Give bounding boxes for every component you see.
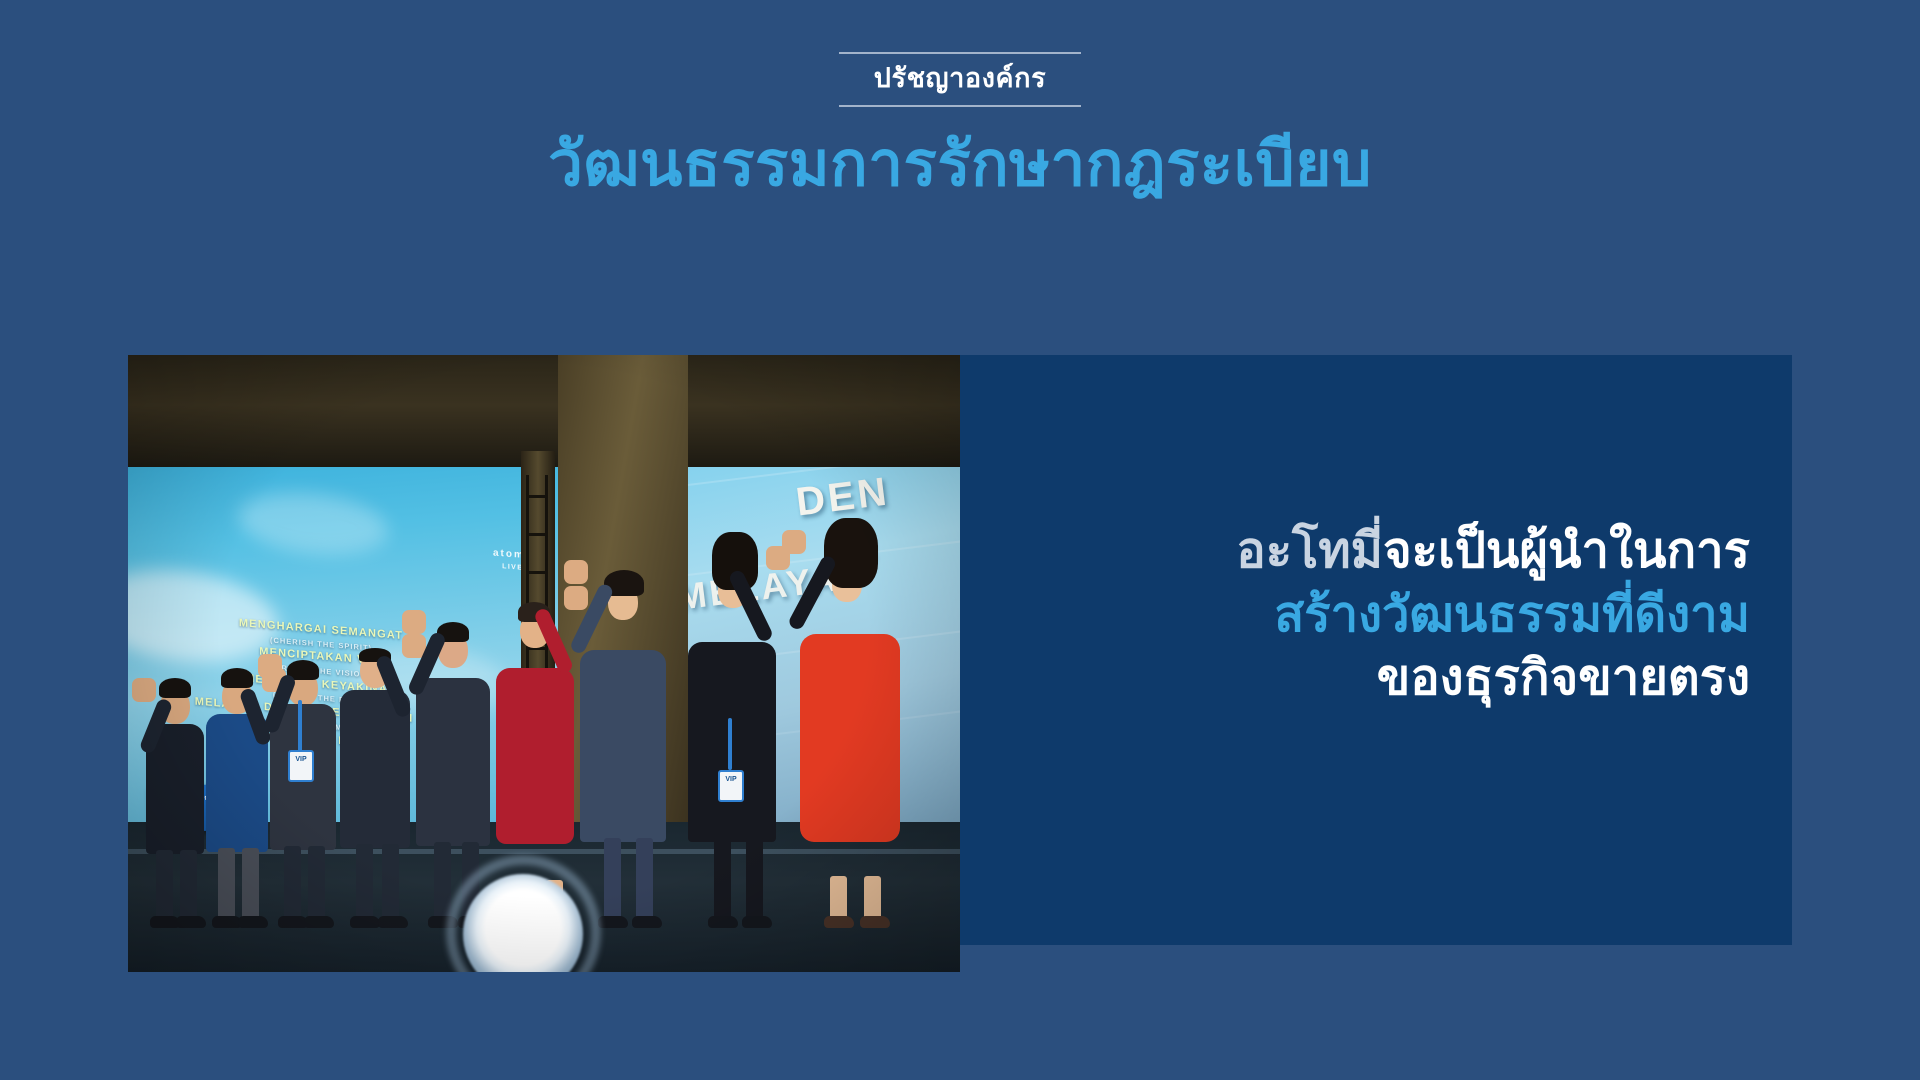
page-title: วัฒนธรรมการรักษากฎระเบียบ: [548, 129, 1372, 200]
slide-header: ปรัชญาองค์กร วัฒนธรรมการรักษากฎระเบียบ: [0, 0, 1920, 230]
eyebrow-text: ปรัชญาองค์กร: [874, 54, 1046, 105]
eyebrow-rule-bottom: [839, 105, 1081, 107]
stage-photo: MENG (FOL DEN ER MELAYA atomy LIVE MENGH…: [128, 355, 960, 972]
statement-line-1-brand: อะโทมี่: [1236, 524, 1383, 578]
statement-text: อะโทมี่จะเป็นผู้นำในการ สร้างวัฒนธรรมที่…: [1010, 520, 1750, 711]
eyebrow-rule-top: [839, 52, 1081, 54]
badge: VIP: [718, 770, 744, 802]
statement-line-3: ของธุรกิจขายตรง: [1010, 647, 1750, 711]
statement-line-2: สร้างวัฒนธรรมที่ดีงาม: [1010, 584, 1750, 648]
eyebrow-label: ปรัชญาองค์กร: [833, 52, 1087, 107]
statement-line-1-rest: จะเป็นผู้นำในการ: [1383, 524, 1750, 578]
statement-line-1: อะโทมี่จะเป็นผู้นำในการ: [1010, 520, 1750, 584]
badge: VIP: [288, 750, 314, 782]
